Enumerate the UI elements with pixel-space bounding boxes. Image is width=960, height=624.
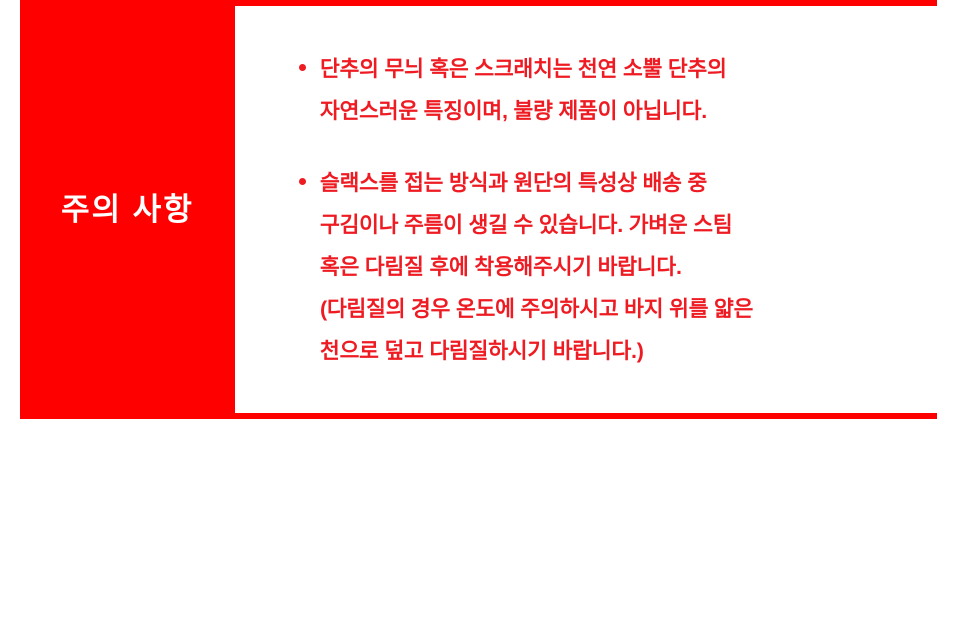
notice-text-line: 구김이나 주름이 생길 수 있습니다. 가벼운 스팀	[320, 204, 917, 246]
notice-text-line: 자연스러운 특징이며, 불량 제품이 아닙니다.	[320, 90, 917, 132]
notice-banner: 주의 사항 단추의 무늬 혹은 스크래치는 천연 소뿔 단추의 자연스러운 특징…	[20, 0, 937, 419]
notice-label-column: 주의 사항	[20, 0, 235, 419]
notice-text-line: 천으로 덮고 다림질하시기 바랍니다.)	[320, 330, 917, 372]
notice-card: 단추의 무늬 혹은 스크래치는 천연 소뿔 단추의 자연스러운 특징이며, 불량…	[235, 6, 937, 413]
notice-list: 단추의 무늬 혹은 스크래치는 천연 소뿔 단추의 자연스러운 특징이며, 불량…	[299, 48, 917, 372]
notice-body-column: 단추의 무늬 혹은 스크래치는 천연 소뿔 단추의 자연스러운 특징이며, 불량…	[235, 0, 937, 419]
notice-label-title: 주의 사항	[61, 191, 194, 228]
list-item: 단추의 무늬 혹은 스크래치는 천연 소뿔 단추의 자연스러운 특징이며, 불량…	[299, 48, 917, 132]
list-item: 슬랙스를 접는 방식과 원단의 특성상 배송 중 구김이나 주름이 생길 수 있…	[299, 162, 917, 372]
bullet-dot-icon	[299, 178, 306, 185]
notice-text-line: 슬랙스를 접는 방식과 원단의 특성상 배송 중	[320, 162, 917, 204]
notice-text-line: 단추의 무늬 혹은 스크래치는 천연 소뿔 단추의	[320, 48, 917, 90]
bullet-dot-icon	[299, 64, 306, 71]
notice-text-line: (다림질의 경우 온도에 주의하시고 바지 위를 얇은	[320, 288, 917, 330]
notice-text-line: 혹은 다림질 후에 착용해주시기 바랍니다.	[320, 246, 917, 288]
